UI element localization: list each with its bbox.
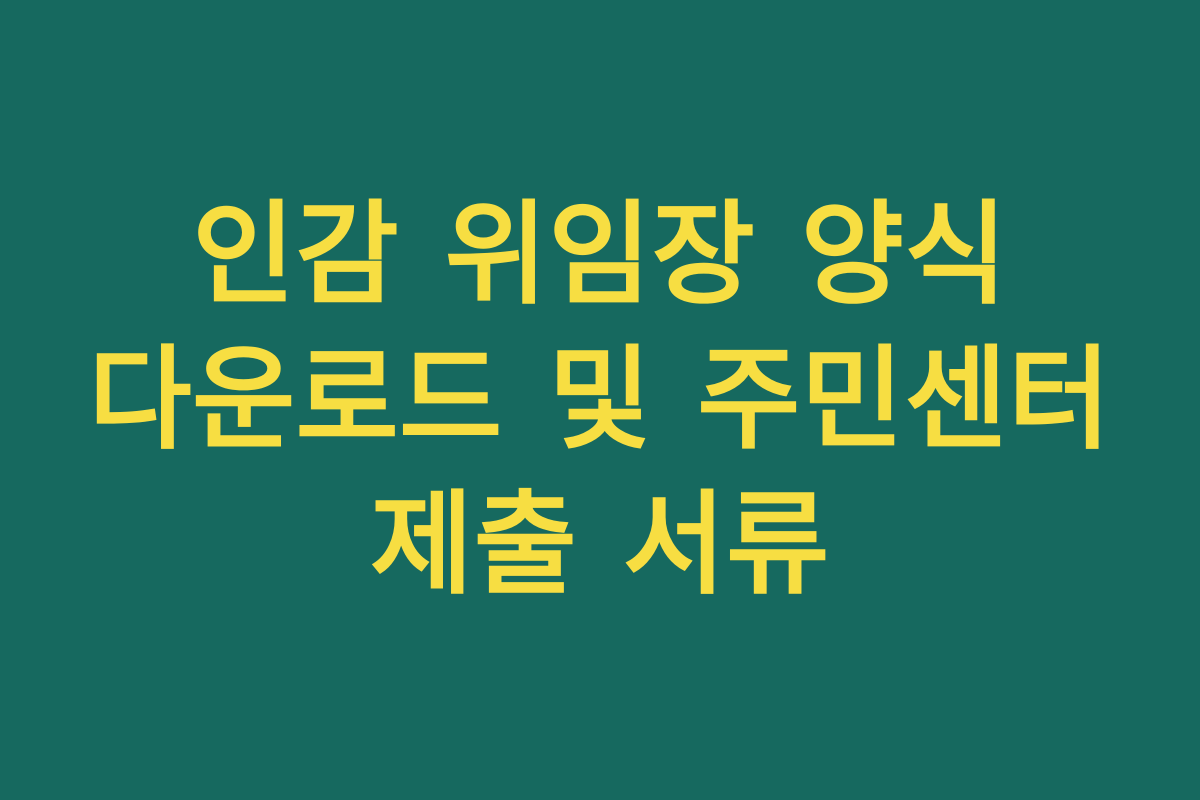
headline-block: 인감 위임장 양식 다운로드 및 주민센터 제출 서류 — [70, 183, 1130, 618]
title-banner: 인감 위임장 양식 다운로드 및 주민센터 제출 서류 — [0, 0, 1200, 800]
page-title: 인감 위임장 양식 다운로드 및 주민센터 제출 서류 — [78, 183, 1122, 618]
